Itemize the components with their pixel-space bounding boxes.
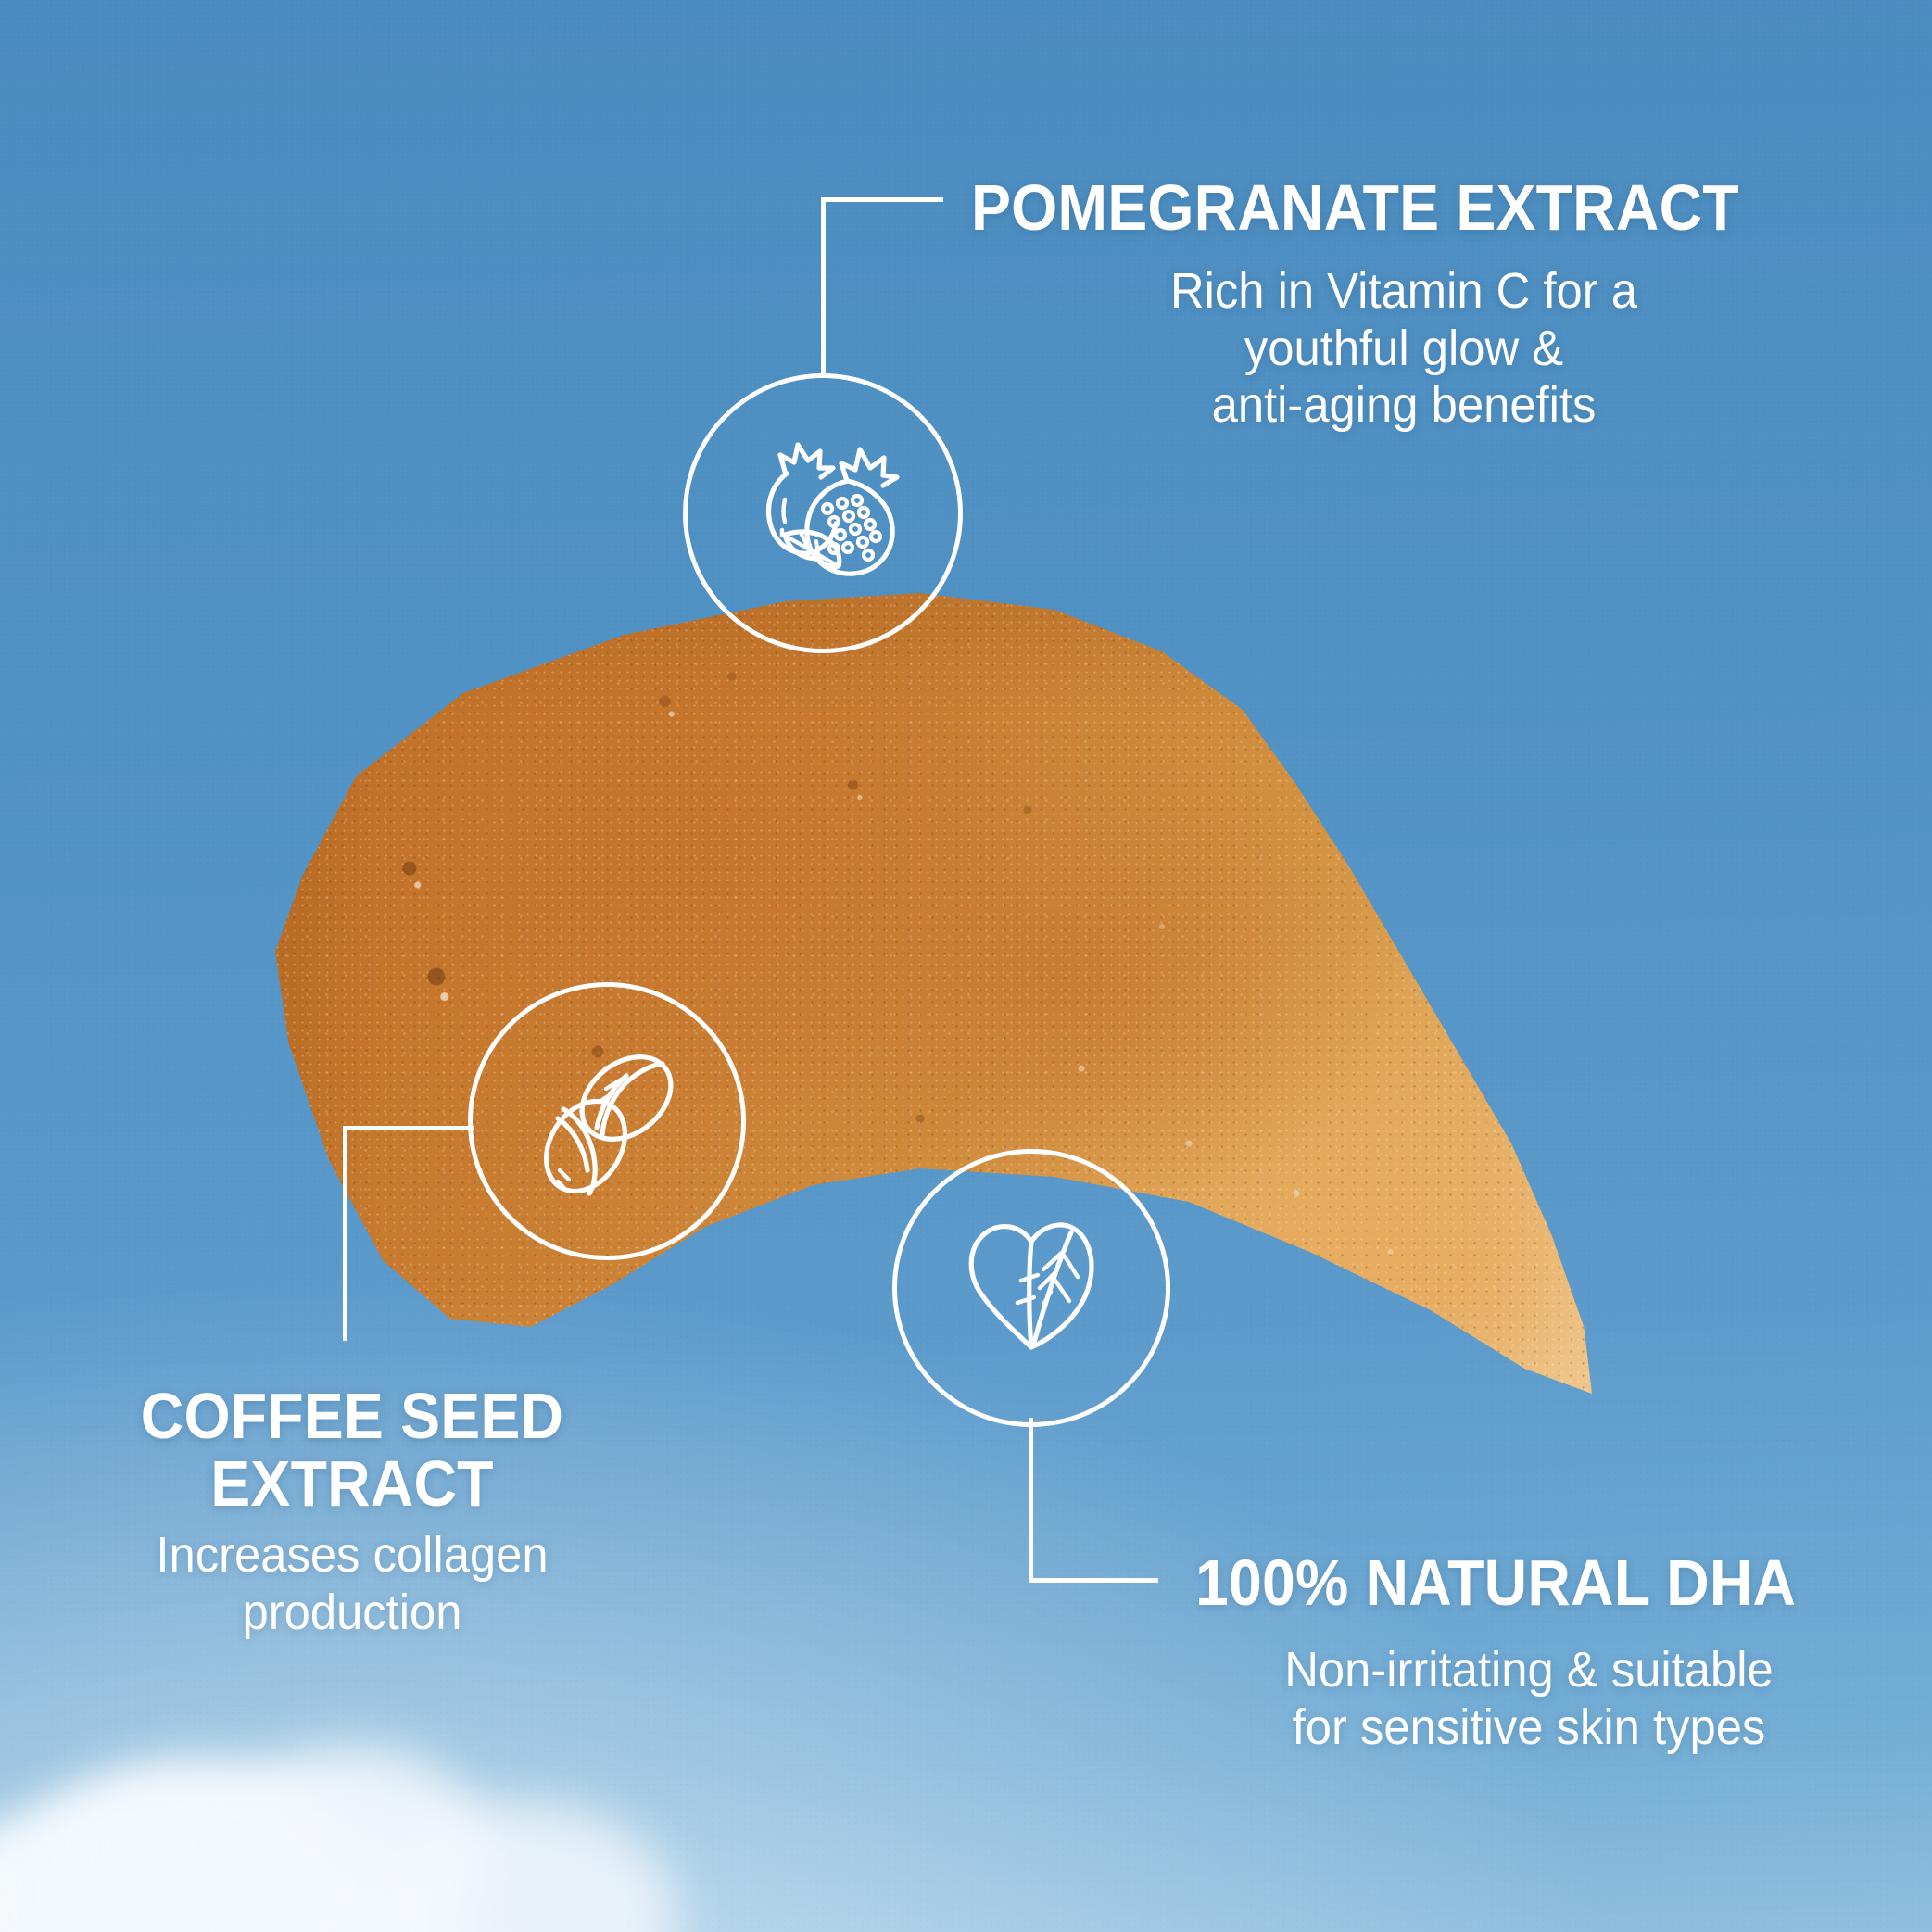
dha-connector-vertical (1029, 1418, 1033, 1583)
dha-connector-horizontal (1029, 1578, 1158, 1583)
dha-description-line: Non-irritating & suitable (1185, 1642, 1874, 1699)
pomegranate-title: POMEGRANATE EXTRACT (971, 174, 1739, 242)
coffee-beans-icon (517, 1031, 697, 1211)
pomegranate-description-line: youthful glow & (1073, 321, 1735, 378)
pomegranate-connector-vertical (821, 197, 826, 376)
coffee-title-line: COFFEE SEED (88, 1383, 616, 1450)
coffee-title: COFFEE SEED EXTRACT (88, 1383, 616, 1518)
coffee-title-line: EXTRACT (88, 1450, 616, 1518)
coffee-description-line: production (73, 1585, 631, 1642)
pomegranate-description: Rich in Vitamin C for a youthful glow & … (1073, 263, 1735, 435)
dha-description-line: for sensitive skin types (1185, 1699, 1874, 1757)
coffee-connector-vertical (343, 1126, 347, 1341)
dha-title: 100% NATURAL DHA (1195, 1549, 1796, 1617)
pomegranate-icon (729, 420, 916, 607)
coffee-connector-horizontal (343, 1126, 474, 1130)
product-ingredient-infographic: POMEGRANATE EXTRACT Rich in Vitamin C fo… (0, 0, 1932, 1932)
pomegranate-description-line: anti-aging benefits (1073, 377, 1735, 435)
coffee-description-line: Increases collagen (73, 1527, 631, 1585)
pomegranate-description-line: Rich in Vitamin C for a (1073, 263, 1735, 321)
coffee-description: Increases collagen production (73, 1527, 631, 1641)
dha-description: Non-irritating & suitable for sensitive … (1185, 1642, 1874, 1756)
pomegranate-connector-horizontal (821, 197, 943, 202)
heart-leaf-icon (947, 1205, 1116, 1373)
